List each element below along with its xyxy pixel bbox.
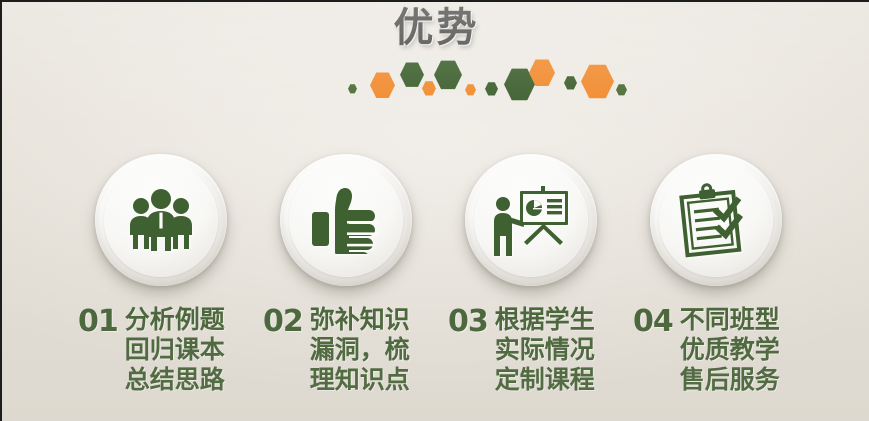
hexagon-shape [581, 64, 614, 99]
feature-circle-2[interactable] [280, 154, 412, 286]
feature-circle-3[interactable] [465, 154, 597, 286]
thumbs-up-icon [311, 186, 381, 254]
feature-text-line: 理知识点 [310, 365, 410, 394]
feature-text-line: 总结思路 [125, 365, 225, 394]
hexagon-shape [434, 60, 462, 90]
feature-number-2: 02 [263, 305, 303, 339]
feature-caption-4: 04 不同班型 优质教学 售后服务 [633, 305, 780, 395]
feature-text-line: 优质教学 [680, 335, 780, 364]
hexagon-shape [616, 84, 627, 96]
feature-text-line: 实际情况 [495, 335, 595, 364]
feature-text-2: 弥补知识 漏洞，梳 理知识点 [310, 305, 410, 395]
hexagon-shape [348, 84, 357, 94]
clipboard-check-icon [678, 182, 754, 258]
hexagon-shape [370, 72, 395, 99]
feature-text-1: 分析例题 回归课本 总结思路 [125, 305, 225, 395]
feature-text-line: 根据学生 [495, 305, 595, 334]
feature-circle-1[interactable] [95, 154, 227, 286]
feature-caption-3: 03 根据学生 实际情况 定制课程 [448, 305, 595, 395]
feature-text-4: 不同班型 优质教学 售后服务 [680, 305, 780, 395]
hexagon-shape [400, 62, 424, 87]
feature-number-1: 01 [78, 305, 118, 339]
feature-text-line: 定制课程 [495, 365, 595, 394]
feature-circle-4[interactable] [650, 154, 782, 286]
feature-text-line: 售后服务 [680, 365, 780, 394]
hexagon-shape [465, 84, 476, 96]
feature-text-3: 根据学生 实际情况 定制课程 [495, 305, 595, 395]
feature-caption-2: 02 弥补知识 漏洞，梳 理知识点 [263, 305, 410, 395]
advantages-poster: 优势 [0, 0, 869, 421]
feature-number-4: 04 [633, 305, 673, 339]
feature-text-line: 不同班型 [680, 305, 780, 334]
presenter-board-icon [492, 184, 570, 256]
feature-text-line: 漏洞，梳 [310, 335, 410, 364]
feature-text-line: 分析例题 [125, 305, 225, 334]
poster-title-wrap: 优势 [2, 2, 869, 52]
feature-text-line: 回归课本 [125, 335, 225, 364]
feature-caption-1: 01 分析例题 回归课本 总结思路 [78, 305, 225, 395]
hexagon-shape [485, 82, 498, 96]
feature-number-3: 03 [448, 305, 488, 339]
hexagon-shape [422, 81, 436, 96]
page-title: 优势 [394, 2, 480, 52]
feature-text-line: 弥补知识 [310, 305, 410, 334]
hexagon-decoration-band [2, 54, 869, 104]
group-people-icon [125, 189, 197, 251]
hexagon-shape [564, 76, 577, 90]
